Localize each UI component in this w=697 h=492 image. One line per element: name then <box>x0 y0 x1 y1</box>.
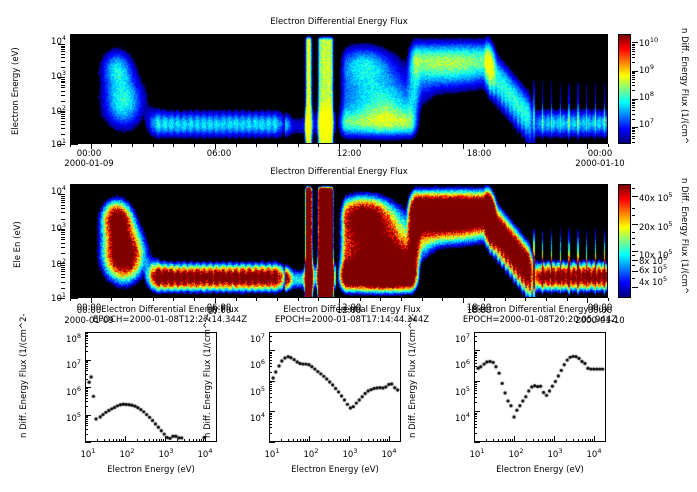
panel2-title: Electron Differential Energy Flux <box>270 168 408 177</box>
minor-ytick <box>61 239 65 240</box>
minor-ytick <box>61 101 65 102</box>
panel2-xtick-mark <box>132 298 133 301</box>
panel2-xtick-mark <box>608 298 609 301</box>
panel1-xtick-mark <box>422 144 423 147</box>
panel2-colorbar-gradient <box>619 185 630 297</box>
panel2-cbar-tick <box>632 251 638 252</box>
panel1-cbar-tick <box>632 44 635 45</box>
panel2-cbar-tick <box>632 224 638 225</box>
panel1-inner-ytick <box>71 144 78 145</box>
panel2-cbar-tick <box>632 278 635 279</box>
panel2-xtick-mark <box>546 298 547 301</box>
minor-ytick <box>61 205 65 206</box>
panel2-xtick-mark <box>422 298 423 301</box>
panel2-xtick-mark <box>236 298 237 301</box>
minor-ytick <box>61 200 65 201</box>
panel2-xtick-mark <box>298 298 299 301</box>
panel1-xtick-mark <box>318 144 319 147</box>
panel1-xtick-mark <box>380 144 381 147</box>
minor-ytick <box>61 282 65 283</box>
minor-ytick <box>61 61 65 62</box>
minor-ytick <box>61 49 65 50</box>
minor-ytick <box>61 82 65 83</box>
minor-ytick <box>61 118 65 119</box>
minor-ytick <box>61 85 65 86</box>
panel1-cbar-tick <box>632 45 635 46</box>
spec-ytick-mark <box>85 442 91 443</box>
panel2-cbar-tick <box>632 215 635 216</box>
panel1-xtick-mark <box>463 144 464 149</box>
spec1-ytick-7: 107 <box>66 359 81 370</box>
minor-ytick <box>61 208 65 209</box>
panel2-ytick-2: 102 <box>51 258 66 269</box>
spec1-xtick-2: 102 <box>120 448 135 459</box>
panel1-cbar-tick <box>632 82 635 83</box>
panel1-cbar-tick <box>632 99 638 100</box>
minor-ytick <box>61 67 65 68</box>
panel2-xtick-mark <box>318 298 319 301</box>
minor-ytick <box>61 237 65 238</box>
panel2-xtick-mark <box>194 298 195 301</box>
panel1-cbar-tick <box>632 114 635 115</box>
panel1-xtick-mark <box>173 144 174 147</box>
panel1-ylabel: Electron Energy (eV) <box>12 47 21 135</box>
spec2-ytick-5: 105 <box>250 386 265 397</box>
minor-ytick <box>61 212 65 213</box>
panel1-cbar-tick <box>632 128 635 129</box>
panel2-cbar-tick <box>632 260 638 261</box>
spec2-title: Electron Differential Energy Flux <box>283 306 421 315</box>
panel1-cbar-tick <box>632 57 635 58</box>
panel1-xtick-mark <box>132 144 133 147</box>
panel1-xtick-mark <box>608 144 609 147</box>
panel1-cbar-tick <box>632 73 635 74</box>
spec1-ytick-6: 106 <box>66 386 81 397</box>
panel2-cbar-tick <box>632 196 638 197</box>
minor-ytick <box>61 271 65 272</box>
minor-ytick <box>61 57 65 58</box>
spec1-title: Electron Differential Energy Flux <box>101 306 239 315</box>
panel1-cbar-tick <box>632 72 635 73</box>
minor-ytick <box>61 247 65 248</box>
spec2-ytick-6: 106 <box>250 359 265 370</box>
panel1-xtick-mark <box>360 144 361 147</box>
spec1-xlabel: Electron Energy (eV) <box>107 466 195 475</box>
panel2-xtick-mark <box>277 298 278 301</box>
panel1-xtick-mark <box>525 144 526 147</box>
spec3-ytick-7: 107 <box>455 333 470 344</box>
panel1-xtick-mark <box>546 144 547 147</box>
spec3-ylabel: n Diff. Energy Flux (1/(cm^2- <box>409 313 418 438</box>
panel1-plot-area <box>70 34 608 144</box>
panel1-xtick-1: 00:00 <box>77 150 102 159</box>
spec1-subtitle: EPOCH=2000-01-08T12:27:14.344Z <box>93 316 247 325</box>
minor-ytick <box>61 219 65 220</box>
spec1-xtick-1: 101 <box>81 448 96 459</box>
panel1-cbar-tick <box>632 130 635 131</box>
spec2-subtitle: EPOCH=2000-01-08T17:14:44.344Z <box>275 316 429 325</box>
minor-ytick <box>61 128 65 129</box>
minor-ytick <box>61 202 65 203</box>
minor-ytick <box>61 243 65 244</box>
panel1-ytick-3: 103 <box>51 70 66 81</box>
minor-ytick <box>61 47 65 48</box>
panel1-xtick-mark <box>70 144 71 147</box>
panel1-cbar-tick <box>632 142 635 143</box>
spec3-ytick-4: 104 <box>455 412 470 423</box>
panel2-spectrogram-canvas <box>71 185 607 297</box>
panel1-cbar-tick <box>632 127 638 128</box>
panel1-cbar-tick <box>632 100 635 101</box>
panel1-cbar-tick <box>632 54 635 55</box>
panel2-cbar-tick <box>632 265 635 266</box>
spec2-ytick-7: 107 <box>250 333 265 344</box>
panel2-cbar-tick <box>632 238 635 239</box>
panel2-xtick-mark <box>111 298 112 301</box>
panel1-xtick-2: 06:00 <box>207 150 232 159</box>
panel1-ytick-4: 104 <box>51 35 66 46</box>
panel2-plot-area <box>70 184 608 298</box>
panel2-xtick-mark <box>70 298 71 301</box>
panel1-xtick-mark <box>442 144 443 147</box>
panel2-inner-ytick <box>71 298 78 299</box>
panel1-cbar-tick <box>632 133 635 134</box>
panel1-xdate-right: 2000-01-10 <box>575 160 624 169</box>
minor-ytick <box>61 124 65 125</box>
panel2-xtick-mark <box>153 298 154 301</box>
panel2-cbtick-40: 40x 105 <box>639 192 673 203</box>
spec3-xlabel: Electron Energy (eV) <box>496 466 584 475</box>
minor-ytick <box>61 234 65 235</box>
panel2-cbar-tick <box>632 271 638 272</box>
panel1-cbar-tick <box>632 71 638 72</box>
panel2-ylabel: Ele En (eV) <box>14 221 23 268</box>
spec3-xtick-3: 103 <box>548 448 563 459</box>
minor-ytick <box>61 198 65 199</box>
spec1-ylabel: n Diff. Energy Flux (1/(cm^2- <box>20 313 29 438</box>
minor-ytick <box>61 288 65 289</box>
panel1-cbar-tick <box>632 47 635 48</box>
panel2-ytick-4: 104 <box>51 185 66 196</box>
minor-ytick <box>61 121 65 122</box>
panel1-cbar-tick <box>632 138 635 139</box>
panel1-xtick-mark <box>277 144 278 147</box>
panel1-cbar-tick <box>632 102 635 103</box>
panel2-xtick-mark <box>567 298 568 301</box>
panel1-xtick-4: 18:00 <box>467 150 492 159</box>
spec3-scatter-canvas <box>475 333 605 441</box>
minor-ytick <box>61 51 65 52</box>
spec-ytick-mark <box>474 442 480 443</box>
spec1-xtick-4: 104 <box>198 448 213 459</box>
panel1-cbar-tick <box>632 105 635 106</box>
panel2-xtick-mark <box>463 298 464 303</box>
spec2-xtick-4: 104 <box>382 448 397 459</box>
panel1-cbtick-9: 109 <box>639 64 654 75</box>
panel1-xdate-left: 2000-01-09 <box>64 160 113 169</box>
spec2-ylabel: n Diff. Energy Flux (1/(cm^2- <box>204 313 213 438</box>
spec2-plot-area <box>269 332 401 442</box>
panel1-xtick-mark <box>484 144 485 147</box>
panel1-ytick-1: 101 <box>51 138 66 149</box>
minor-ytick <box>61 274 65 275</box>
panel1-cbar-tick <box>632 49 635 50</box>
minor-ytick <box>61 134 65 135</box>
panel2-cbtick-4: 4x 105 <box>639 276 667 287</box>
panel2-colorbar <box>618 184 631 298</box>
panel1-cbar-tick <box>632 77 635 78</box>
spec2-xlabel: Electron Energy (eV) <box>291 466 379 475</box>
panel1-xtick-mark <box>256 144 257 147</box>
panel1-cbar-tick <box>632 85 635 86</box>
panel2-cbtick-6: 6x 105 <box>639 264 667 275</box>
panel1-cbar-tick <box>632 119 635 120</box>
minor-ytick <box>61 95 65 96</box>
panel1-xtick-mark <box>236 144 237 147</box>
panel1-cbar-label: n Diff. Energy Flux (1/(cm^ <box>680 28 689 144</box>
panel2-cbar-tick <box>632 244 635 245</box>
panel2-xtick-mark <box>380 298 381 301</box>
spec1-plot-area <box>85 332 217 442</box>
spec2-xtick-2: 102 <box>304 448 319 459</box>
panel1-cbar-tick <box>632 107 635 108</box>
panel2-xtick-mark <box>173 298 174 301</box>
panel1-cbar-tick <box>632 79 635 80</box>
panel2-cbar-tick <box>632 232 635 233</box>
panel1-cbar-tick <box>632 131 635 132</box>
minor-ytick <box>61 87 65 88</box>
panel1-xtick-mark <box>401 144 402 147</box>
spec2-ytick-4: 104 <box>250 412 265 423</box>
panel1-xtick-3: 12:00 <box>337 150 362 159</box>
panel1-cbar-tick <box>632 103 635 104</box>
panel2-xtick-mark <box>505 298 506 301</box>
panel1-xtick-5: 00:00 <box>588 150 613 159</box>
panel2-cbar-tick <box>632 188 635 189</box>
panel2-xtick-mark <box>401 298 402 301</box>
panel1-ytick-2: 102 <box>51 105 66 116</box>
spec1-ytick-5: 105 <box>66 412 81 423</box>
panel1-spectrogram-canvas <box>71 35 607 143</box>
panel1-xtick-mark <box>194 144 195 147</box>
panel1-xtick-mark <box>567 144 568 147</box>
minor-ytick <box>61 277 65 278</box>
panel1-cbtick-7: 107 <box>639 118 654 129</box>
panel2-xtick-mark <box>484 298 485 301</box>
figure-root: Electron Differential Energy Flux Electr… <box>0 0 697 492</box>
panel2-cbar-tick <box>632 255 635 256</box>
spec1-ytick-8: 108 <box>66 333 81 344</box>
spec3-ytick-5: 105 <box>455 386 470 397</box>
spec2-xtick-1: 101 <box>265 448 280 459</box>
panel1-cbtick-8: 108 <box>639 91 654 102</box>
spec3-ytick-6: 106 <box>455 359 470 370</box>
panel1-cbar-tick <box>632 75 635 76</box>
panel1-cbar-tick <box>632 62 635 63</box>
panel1-xtick-mark <box>111 144 112 147</box>
panel1-colorbar-gradient <box>619 35 630 143</box>
spec3-subtitle: EPOCH=2000-01-08T20:20:05.944Z <box>463 316 617 325</box>
panel2-cbar-tick <box>632 208 635 209</box>
panel1-cbar-tick <box>632 51 635 52</box>
panel1-cbar-tick <box>632 110 635 111</box>
panel1-xtick-mark <box>153 144 154 147</box>
spec3-xtick-4: 104 <box>587 448 602 459</box>
panel1-colorbar <box>618 34 631 144</box>
spec3-xtick-2: 102 <box>509 448 524 459</box>
spec1-scatter-canvas <box>86 333 216 441</box>
panel2-xtick-mark <box>525 298 526 301</box>
spec2-scatter-canvas <box>270 333 400 441</box>
panel1-cbtick-10: 1010 <box>639 37 658 48</box>
panel1-cbar-tick <box>632 90 635 91</box>
spec-ytick-mark <box>269 442 275 443</box>
spec3-plot-area <box>474 332 606 442</box>
spec1-xtick-3: 103 <box>159 448 174 459</box>
spec3-title: Electron Differential Energy Flux <box>471 306 609 315</box>
panel2-cbar-tick <box>632 287 638 288</box>
spec2-xtick-3: 103 <box>343 448 358 459</box>
panel2-xtick-mark <box>360 298 361 301</box>
panel2-ytick-1: 101 <box>51 292 66 303</box>
panel2-xtick-mark <box>442 298 443 301</box>
minor-ytick <box>61 54 65 55</box>
panel1-xtick-mark <box>505 144 506 147</box>
panel1-xtick-mark <box>298 144 299 147</box>
minor-ytick <box>61 91 65 92</box>
spec3-xtick-1: 101 <box>470 448 485 459</box>
panel1-cbar-tick <box>632 136 635 137</box>
panel2-ytick-3: 103 <box>51 222 66 233</box>
panel1-title: Electron Differential Energy Flux <box>270 18 408 27</box>
panel2-cbtick-20: 20x 105 <box>639 221 673 232</box>
panel2-xtick-mark <box>256 298 257 301</box>
panel1-cbar-tick <box>632 42 638 43</box>
panel2-cbar-label: n Diff. Energy Flux (1/(cm^ <box>680 178 689 294</box>
minor-ytick <box>61 253 65 254</box>
